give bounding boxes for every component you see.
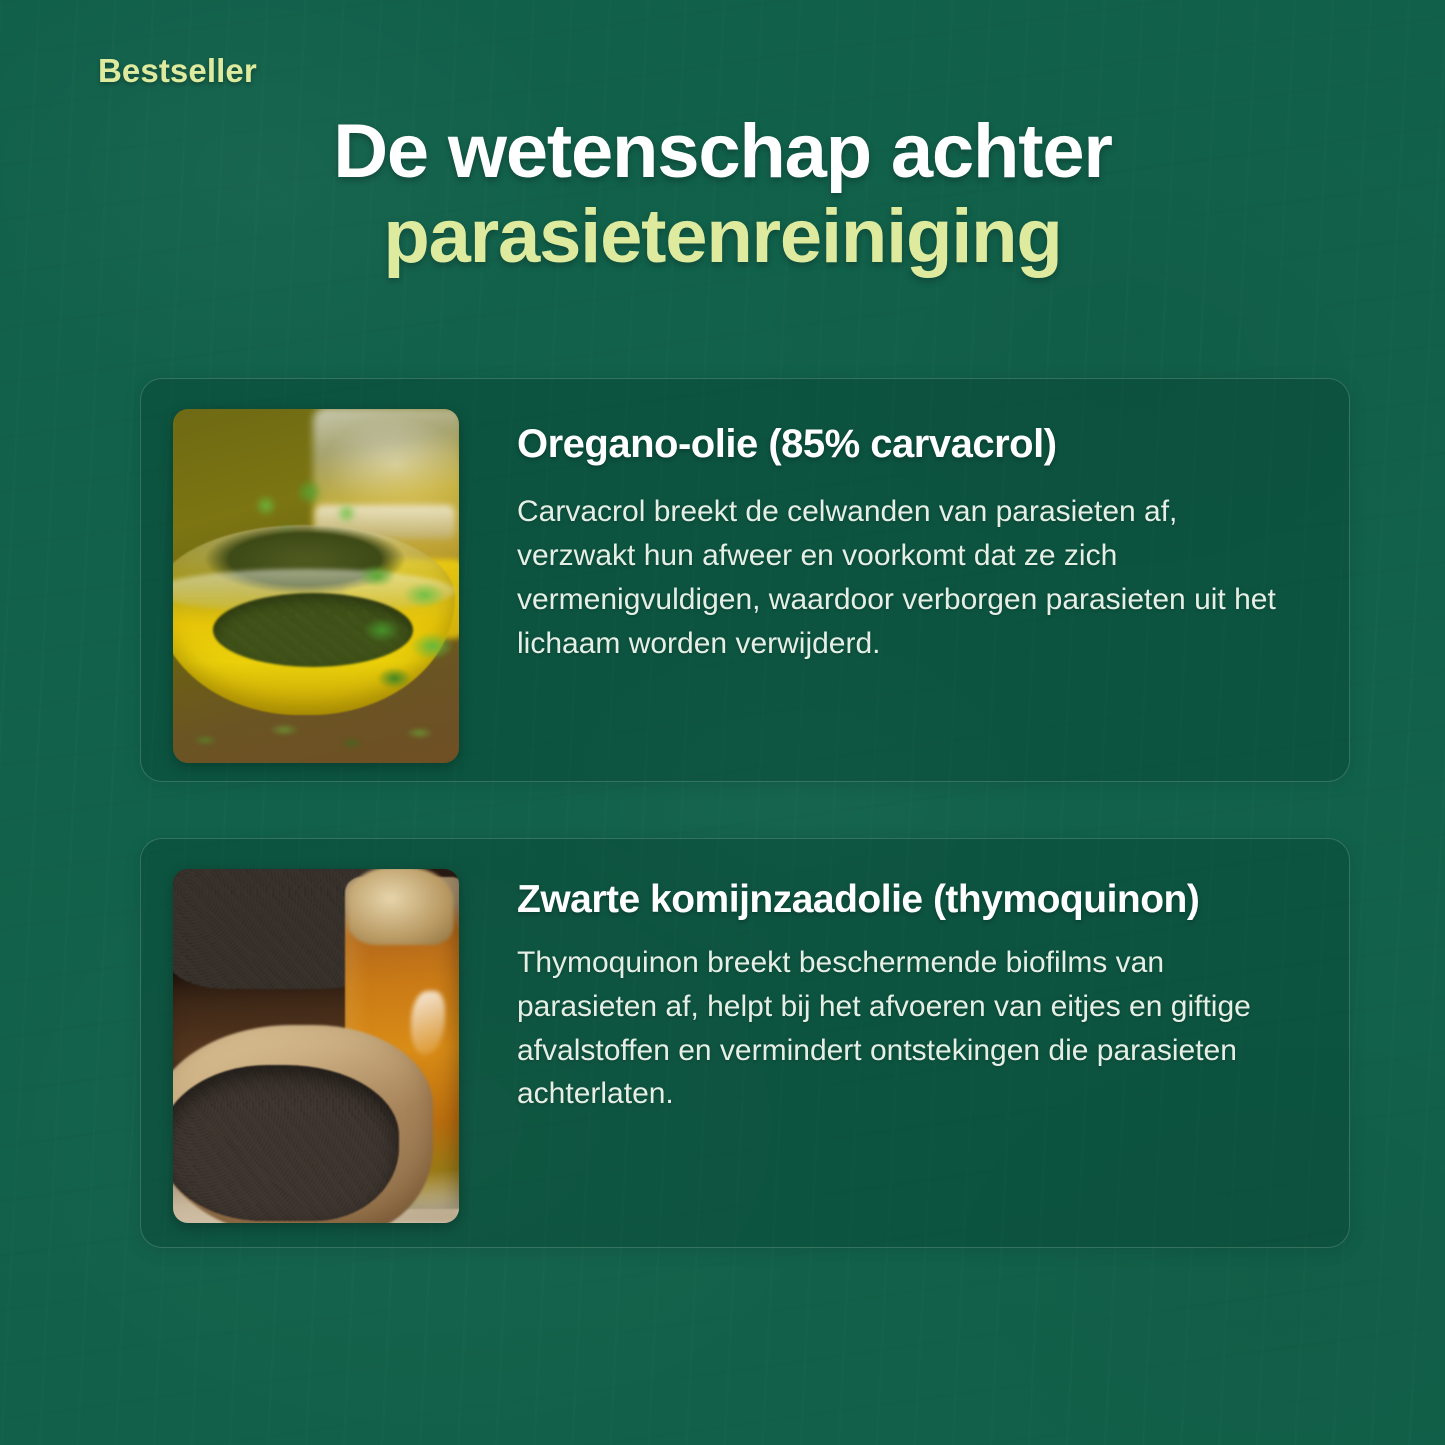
- black-cumin-seed-oil-photo: [173, 869, 459, 1223]
- oregano-oil-photo: [173, 409, 459, 763]
- foreground-herb-leaves: [339, 547, 459, 707]
- page-title-line2: parasietenreiniging: [120, 191, 1325, 284]
- scattered-herbs: [177, 709, 459, 761]
- bestseller-badge: Bestseller: [98, 52, 257, 90]
- oregano-card-text: Carvacrol breekt de celwanden van parasi…: [517, 490, 1277, 665]
- black-cumin-card-title: Zwarte komijnzaadolie (thymoquinon): [517, 877, 1317, 923]
- black-cumin-card-text: Thymoquinon breekt beschermende biofilms…: [517, 941, 1257, 1116]
- oregano-card-title: Oregano-olie (85% carvacrol): [517, 421, 1317, 468]
- page-title: De wetenschap achter parasietenreiniging: [0, 112, 1445, 284]
- oregano-photo-base: [173, 409, 459, 763]
- oregano-card-body: Oregano-olie (85% carvacrol) Carvacrol b…: [459, 409, 1317, 665]
- bottle-cork-shape: [349, 869, 453, 945]
- infographic-page: Bestseller De wetenschap achter parasiet…: [0, 0, 1445, 1445]
- ingredient-card-oregano: Oregano-olie (85% carvacrol) Carvacrol b…: [140, 378, 1350, 782]
- cumin-photo-base: [173, 869, 459, 1223]
- ingredient-card-black-cumin: Zwarte komijnzaadolie (thymoquinon) Thym…: [140, 838, 1350, 1248]
- page-title-line1: De wetenschap achter: [120, 112, 1325, 191]
- black-cumin-seed-pile: [173, 1065, 399, 1221]
- black-cumin-card-body: Zwarte komijnzaadolie (thymoquinon) Thym…: [459, 869, 1317, 1116]
